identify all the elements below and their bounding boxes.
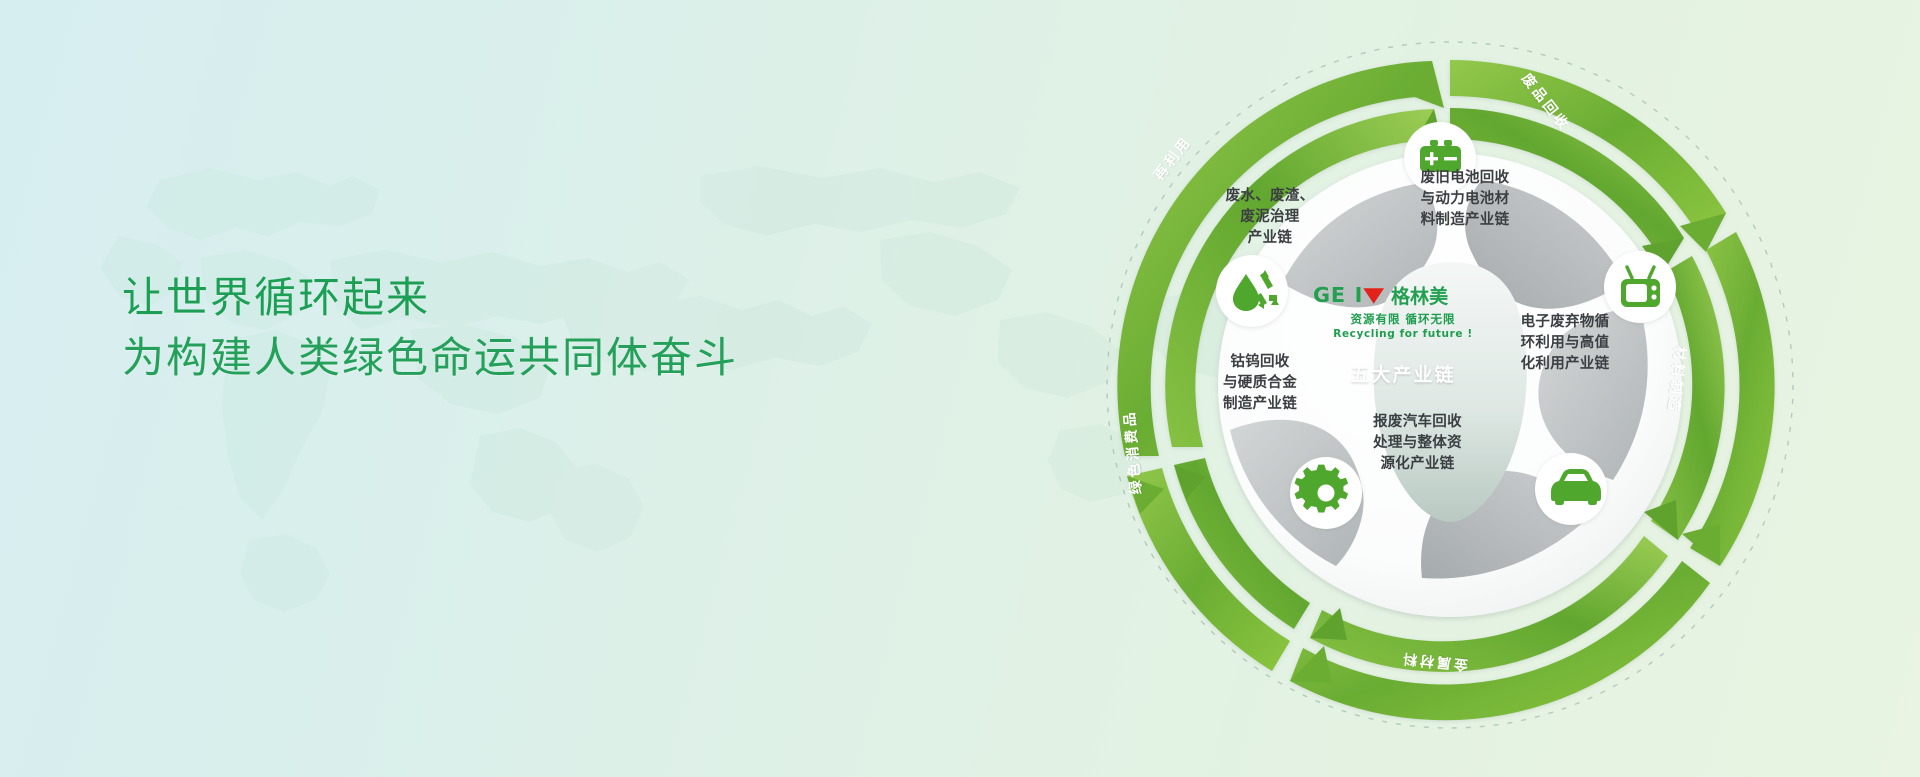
segment-label-car: 报废汽车回收 处理与整体资 源化产业链 — [1335, 412, 1500, 475]
page-headline: 让世界循环起来 为构建人类绿色命运共同体奋斗 — [122, 268, 882, 387]
headline-line-1: 让世界循环起来 — [122, 268, 882, 328]
svg-text:GE: GE — [1313, 283, 1346, 307]
headline-line-2: 为构建人类绿色命运共同体奋斗 — [122, 328, 882, 388]
center-caption: 五大产业链 — [1313, 360, 1493, 387]
brand-tagline-en: Recycling for future ! — [1313, 328, 1493, 340]
car-icon-bubble — [1535, 453, 1607, 525]
brand-tagline-cn: 资源有限 循环无限 — [1313, 311, 1493, 327]
recycle-drop-icon-bubble — [1216, 255, 1288, 327]
gem-logo: GE I 格林美 — [1313, 283, 1495, 309]
circular-economy-diagram — [1020, 0, 1920, 777]
svg-text:I: I — [1355, 283, 1364, 307]
segment-label-ewaste: 电子废弃物循 环利用与高值 化利用产业链 — [1485, 312, 1645, 375]
center-brand-block: GE I 格林美 资源有限 循环无限 Recycling for future … — [1313, 283, 1493, 387]
svg-text:格林美: 格林美 — [1391, 285, 1449, 308]
segment-label-battery: 废旧电池回收 与动力电池材 料制造产业链 — [1385, 168, 1545, 231]
segment-label-water: 废水、废渣、 废泥治理 产业链 — [1195, 186, 1345, 249]
